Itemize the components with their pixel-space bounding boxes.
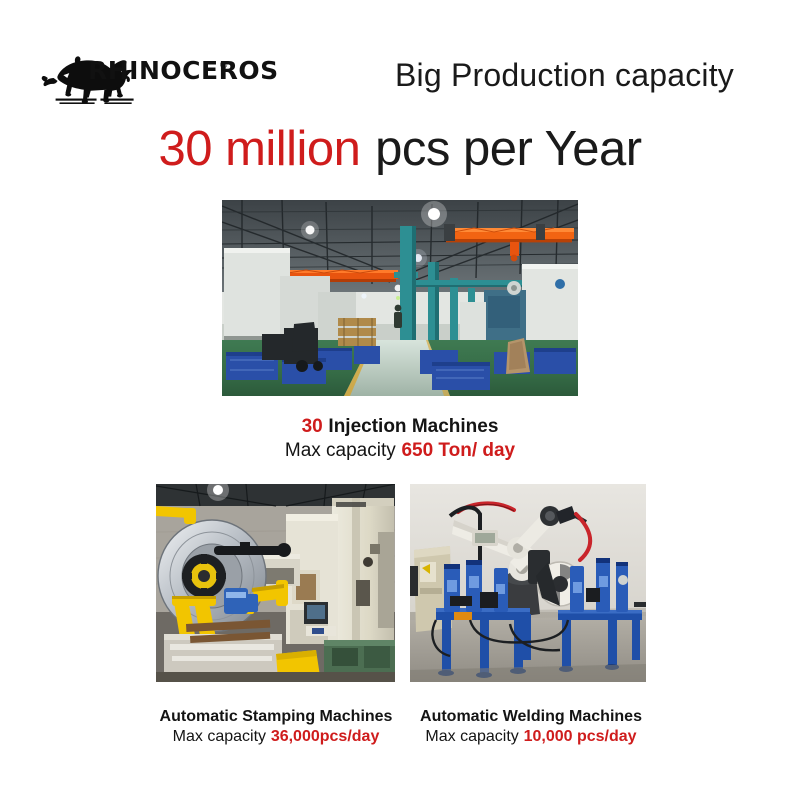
headline: 30 millionpcs per Year [0, 124, 800, 175]
factory-capacity-prefix: Max capacity [285, 440, 396, 461]
caption-factory: 30Injection Machines Max capacity650 Ton… [200, 415, 600, 464]
page-title: Big Production capacity [395, 57, 765, 94]
headline-rest: pcs per Year [375, 122, 641, 176]
injection-machine-count: 30 [302, 416, 323, 437]
automatic-welding-machine-photo [410, 484, 646, 682]
factory-capacity-value: 650 Ton/ day [401, 440, 515, 461]
stamping-capacity-prefix: Max capacity [173, 728, 266, 745]
injection-machine-label: Injection Machines [328, 416, 498, 437]
headline-highlight: 30 million [158, 122, 360, 176]
caption-stamping: Automatic Stamping Machines Max capacity… [140, 707, 412, 748]
welding-capacity-prefix: Max capacity [425, 728, 518, 745]
welding-capacity-value: 10,000 pcs/day [524, 728, 637, 745]
caption-stamping-line2: Max capacity36,000pcs/day [140, 727, 412, 747]
promo-page: RHINOCEROS ® Big Production capacity 30 … [0, 0, 800, 800]
registered-trademark-icon: ® [220, 60, 227, 71]
page-header: RHINOCEROS ® Big Production capacity [0, 0, 800, 112]
caption-factory-line2: Max capacity650 Ton/ day [200, 439, 600, 463]
stamping-label: Automatic Stamping Machines [140, 707, 412, 727]
caption-welding-line2: Max capacity10,000 pcs/day [400, 727, 662, 747]
brand-wordmark: RHINOCEROS [88, 58, 279, 83]
automatic-stamping-machine-photo [156, 484, 395, 682]
welding-label: Automatic Welding Machines [400, 707, 662, 727]
stamping-capacity-value: 36,000pcs/day [271, 728, 380, 745]
caption-factory-line1: 30Injection Machines [200, 415, 600, 439]
caption-welding: Automatic Welding Machines Max capacity1… [400, 707, 662, 748]
factory-interior-photo [222, 200, 578, 396]
